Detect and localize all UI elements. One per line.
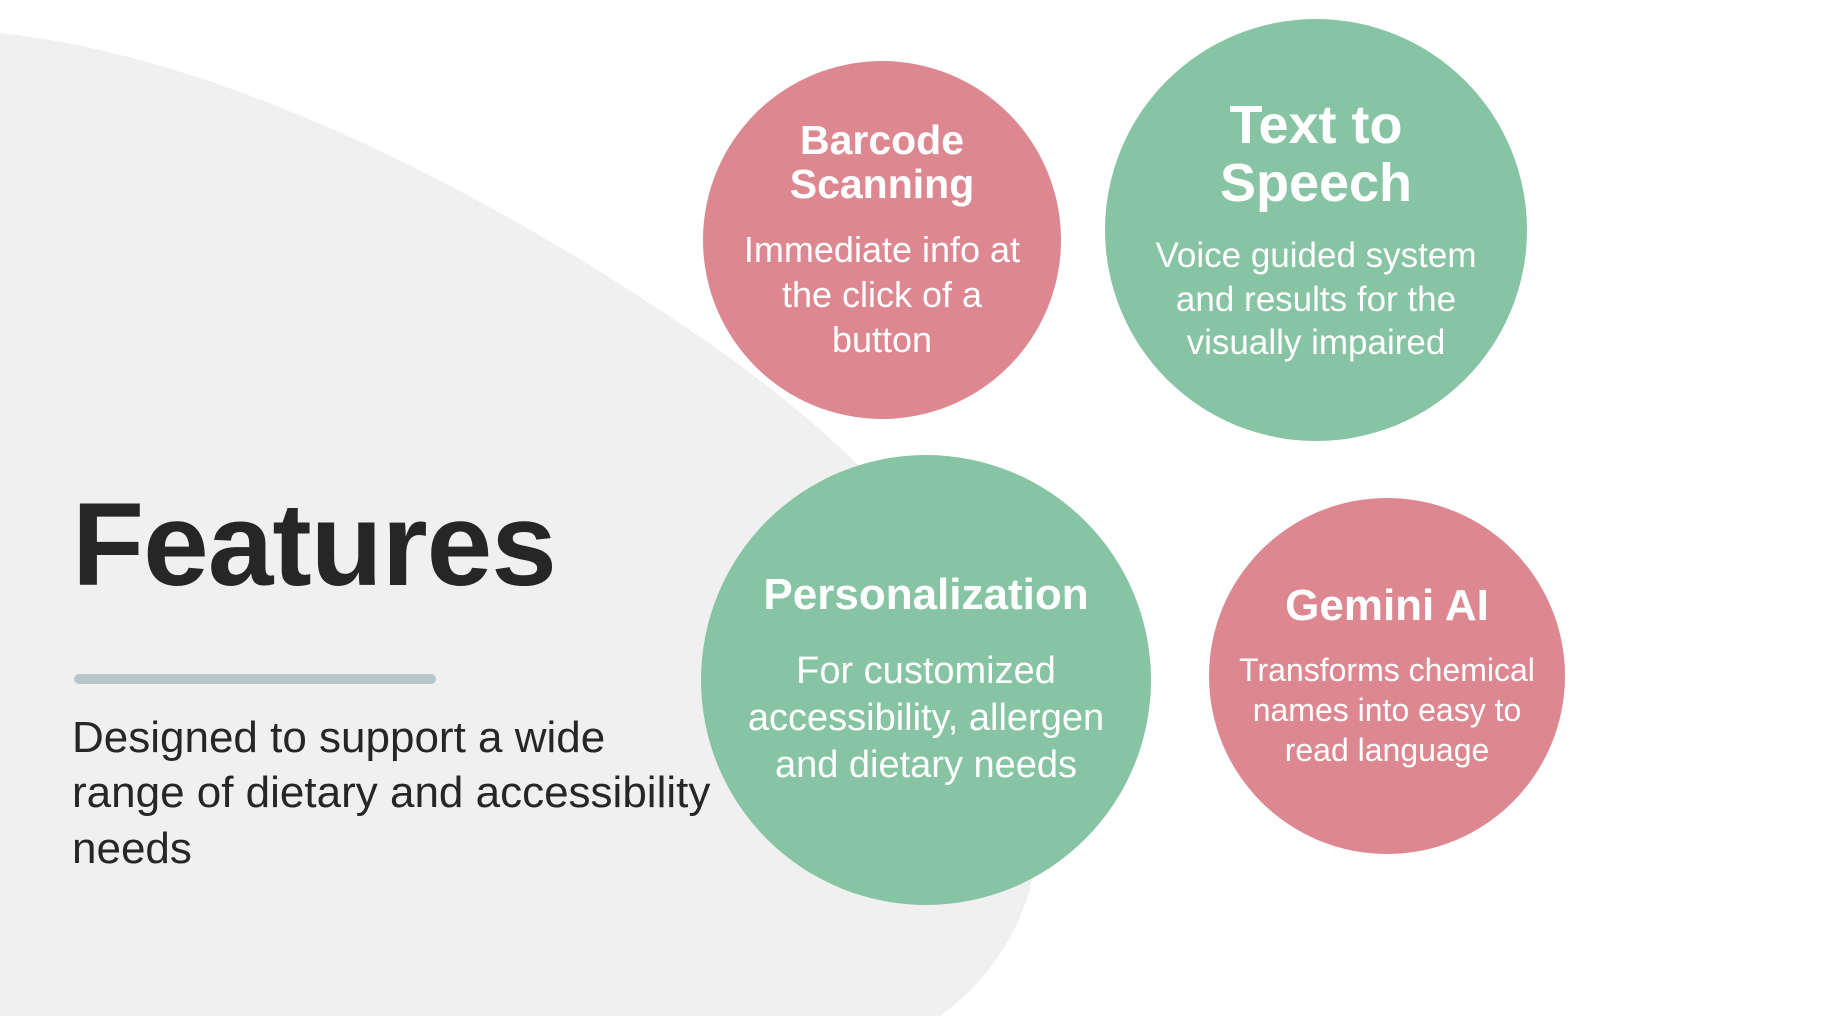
slide-canvas: Features Designed to support a wide rang…: [0, 0, 1826, 1016]
feature-title-text-to-speech: Text to Speech: [1186, 96, 1446, 213]
feature-body-text-to-speech: Voice guided system and results for the …: [1151, 234, 1481, 364]
feature-circle-personalization[interactable]: Personalization For customized accessibi…: [701, 455, 1151, 905]
feature-body-gemini-ai: Transforms chemical names into easy to r…: [1237, 651, 1537, 770]
feature-circle-barcode-scanning[interactable]: Barcode Scanning Immediate info at the c…: [703, 61, 1061, 419]
feature-title-personalization: Personalization: [763, 571, 1088, 619]
feature-body-barcode-scanning: Immediate info at the click of a button: [732, 228, 1032, 362]
feature-title-gemini-ai: Gemini AI: [1285, 582, 1489, 630]
title-divider-rule: [74, 674, 436, 684]
feature-circle-gemini-ai[interactable]: Gemini AI Transforms chemical names into…: [1209, 498, 1565, 854]
feature-title-barcode-scanning: Barcode Scanning: [752, 118, 1012, 207]
page-title: Features: [72, 486, 712, 604]
feature-body-personalization: For customized accessibility, allergen a…: [726, 648, 1126, 789]
page-subtitle: Designed to support a wide range of diet…: [72, 710, 712, 876]
left-text-panel: Features Designed to support a wide rang…: [72, 486, 712, 876]
feature-circle-text-to-speech[interactable]: Text to Speech Voice guided system and r…: [1105, 19, 1527, 441]
